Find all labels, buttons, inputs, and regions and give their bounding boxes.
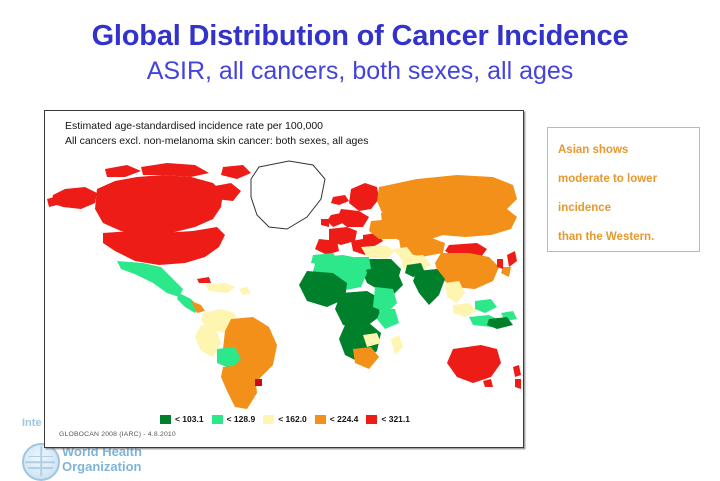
annotation-line-1: Asian shows — [558, 136, 699, 165]
legend-label: < 128.9 — [227, 414, 256, 424]
map-legend: < 103.1 < 128.9 < 162.0 < 224.4 < 321.1 — [45, 414, 525, 424]
map-caption-line1: Estimated age-standardised incidence rat… — [65, 120, 323, 132]
map-caption-line2: All cancers excl. non-melanoma skin canc… — [65, 135, 368, 147]
choropleth-world-map — [45, 153, 525, 411]
who-logo-line2: Organization — [62, 459, 142, 474]
legend-swatch-icon — [263, 415, 274, 424]
legend-label: < 224.4 — [330, 414, 359, 424]
slide-canvas: Global Distribution of Cancer Incidence … — [0, 0, 720, 480]
who-partial-text: Inte — [22, 417, 42, 429]
legend-item: < 321.1 — [366, 414, 410, 424]
legend-label: < 162.0 — [278, 414, 307, 424]
legend-label: < 103.1 — [175, 414, 204, 424]
legend-label: < 321.1 — [381, 414, 410, 424]
world-map-panel: Estimated age-standardised incidence rat… — [44, 110, 524, 448]
annotation-line-2: moderate to lower — [558, 165, 699, 194]
annotation-line-3: incidence — [558, 194, 699, 223]
legend-item: < 224.4 — [315, 414, 359, 424]
map-landmasses — [47, 161, 521, 409]
legend-item: < 162.0 — [263, 414, 307, 424]
page-subtitle: ASIR, all cancers, both sexes, all ages — [0, 57, 720, 86]
legend-swatch-icon — [160, 415, 171, 424]
legend-swatch-icon — [212, 415, 223, 424]
legend-swatch-icon — [366, 415, 377, 424]
legend-swatch-icon — [315, 415, 326, 424]
map-source-text: GLOBOCAN 2008 (IARC) - 4.8.2010 — [59, 431, 176, 438]
legend-item: < 128.9 — [212, 414, 256, 424]
annotation-callout: Asian shows moderate to lower incidence … — [547, 127, 700, 252]
page-title: Global Distribution of Cancer Incidence — [0, 20, 720, 53]
who-logo: World Health Organization — [22, 443, 152, 479]
legend-item: < 103.1 — [160, 414, 204, 424]
who-logo-text: World Health Organization — [62, 444, 142, 474]
who-globe-icon — [22, 443, 60, 481]
annotation-line-4: than the Western. — [558, 223, 699, 252]
